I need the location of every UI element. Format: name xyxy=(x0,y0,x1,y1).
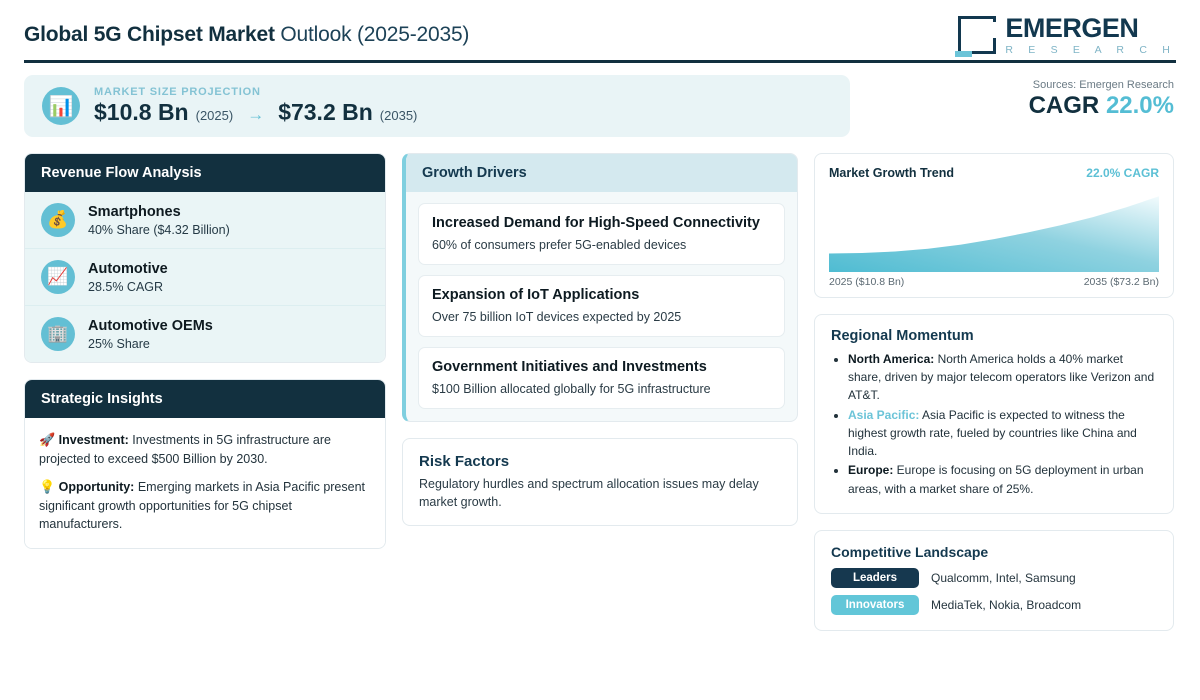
region-label: Europe: xyxy=(848,463,893,477)
light-bulb-icon: 💡 xyxy=(39,479,55,494)
regional-momentum-list: North America: North America holds a 40%… xyxy=(831,350,1157,498)
chart-axis-left: 2025 ($10.8 Bn) xyxy=(829,276,904,288)
item-meta: 28.5% CAGR xyxy=(88,280,168,294)
banner-label: MARKET SIZE PROJECTION xyxy=(94,86,417,98)
page-title: Global 5G Chipset Market Outlook (2025-2… xyxy=(24,23,469,47)
chart-axis-labels: 2025 ($10.8 Bn) 2035 ($73.2 Bn) xyxy=(829,276,1159,288)
list-item: North America: North America holds a 40%… xyxy=(848,350,1157,405)
cagr-value: 22.0% xyxy=(1106,92,1174,119)
cagr-block: Sources: Emergen Research CAGR 22.0% xyxy=(850,75,1176,120)
growth-drivers-list: Increased Demand for High-Speed Connecti… xyxy=(406,192,797,421)
revenue-flow-title: Revenue Flow Analysis xyxy=(25,154,385,192)
region-label: North America: xyxy=(848,352,934,366)
status-badge[interactable]: Leaders xyxy=(831,568,919,588)
right-column: Market Growth Trend 22.0% CAGR xyxy=(814,153,1174,631)
item-name: Automotive xyxy=(88,260,168,278)
company-names: MediaTek, Nokia, Broadcom xyxy=(931,598,1081,612)
company-names: Qualcomm, Intel, Samsung xyxy=(931,571,1076,585)
region-text: Europe is focusing on 5G deployment in u… xyxy=(848,463,1144,495)
competitive-landscape-title: Competitive Landscape xyxy=(831,544,1157,560)
insight-label: Opportunity: xyxy=(59,480,135,494)
regional-momentum-card: Regional Momentum North America: North A… xyxy=(814,314,1174,514)
report-page: Global 5G Chipset Market Outlook (2025-2… xyxy=(0,0,1200,700)
left-column: Revenue Flow Analysis 💰 Smartphones 40% … xyxy=(24,153,386,549)
content-columns: Revenue Flow Analysis 💰 Smartphones 40% … xyxy=(24,153,1176,631)
strategic-insights-title: Strategic Insights xyxy=(25,380,385,418)
chart-title: Market Growth Trend xyxy=(829,166,954,180)
bar-chart-icon: 📊 xyxy=(42,87,80,125)
risk-factors-title: Risk Factors xyxy=(419,453,781,470)
list-item[interactable]: 🏢 Automotive OEMs 25% Share xyxy=(25,306,385,362)
item-name: Automotive OEMs xyxy=(88,317,213,335)
risk-factors-card: Risk Factors Regulatory hurdles and spec… xyxy=(402,438,798,526)
growth-drivers-title: Growth Drivers xyxy=(406,154,797,192)
emergen-research-logo: EMERGEN R E S E A R C H xyxy=(958,15,1176,56)
insight-item: 💡 Opportunity: Emerging markets in Asia … xyxy=(39,477,371,534)
risk-factors-detail: Regulatory hurdles and spectrum allocati… xyxy=(419,475,781,511)
driver-detail: $100 Billion allocated globally for 5G i… xyxy=(432,381,771,397)
list-item: Europe: Europe is focusing on 5G deploym… xyxy=(848,461,1157,497)
logo-name: EMERGEN xyxy=(1005,15,1176,42)
insight-label: Investment: xyxy=(59,433,129,447)
chart-axis-right: 2035 ($73.2 Bn) xyxy=(1084,276,1159,288)
summary-banner-row: 📊 MARKET SIZE PROJECTION $10.8 Bn (2025)… xyxy=(24,75,1176,137)
insight-item: 🚀 Investment: Investments in 5G infrastr… xyxy=(39,430,371,468)
banner-end-value: $73.2 Bn xyxy=(278,99,373,126)
cagr-headline: CAGR 22.0% xyxy=(850,92,1174,120)
table-row: Leaders Qualcomm, Intel, Samsung xyxy=(831,568,1157,588)
page-title-light: Outlook (2025-2035) xyxy=(280,23,469,46)
strategic-insights-body: 🚀 Investment: Investments in 5G infrastr… xyxy=(25,418,385,548)
competitive-landscape-card: Competitive Landscape Leaders Qualcomm, … xyxy=(814,530,1174,631)
middle-column: Growth Drivers Increased Demand for High… xyxy=(402,153,798,526)
sources-text: Sources: Emergen Research xyxy=(850,79,1174,91)
banner-end-year: (2035) xyxy=(380,108,418,123)
cagr-label: CAGR xyxy=(1029,92,1100,119)
market-size-banner: 📊 MARKET SIZE PROJECTION $10.8 Bn (2025)… xyxy=(24,75,850,137)
list-item[interactable]: Expansion of IoT Applications Over 75 bi… xyxy=(418,275,785,337)
revenue-flow-card: Revenue Flow Analysis 💰 Smartphones 40% … xyxy=(24,153,386,363)
page-title-strong: Global 5G Chipset Market xyxy=(24,23,275,46)
page-header: Global 5G Chipset Market Outlook (2025-2… xyxy=(24,0,1176,58)
list-item[interactable]: 📈 Automotive 28.5% CAGR xyxy=(25,249,385,306)
list-item[interactable]: Government Initiatives and Investments $… xyxy=(418,347,785,409)
status-badge[interactable]: Innovators xyxy=(831,595,919,615)
arrow-right-icon: → xyxy=(240,105,271,125)
header-divider xyxy=(24,60,1176,63)
strategic-insights-card: Strategic Insights 🚀 Investment: Investm… xyxy=(24,379,386,549)
item-meta: 40% Share ($4.32 Billion) xyxy=(88,223,230,237)
growth-drivers-panel: Growth Drivers Increased Demand for High… xyxy=(402,153,798,422)
regional-momentum-title: Regional Momentum xyxy=(831,328,1157,344)
banner-start-year: (2025) xyxy=(196,108,234,123)
logo-square-icon xyxy=(958,16,996,54)
revenue-flow-list: 💰 Smartphones 40% Share ($4.32 Billion) … xyxy=(25,192,385,362)
item-meta: 25% Share xyxy=(88,337,213,351)
money-bag-icon: 💰 xyxy=(41,203,75,237)
logo-wordmark: EMERGEN R E S E A R C H xyxy=(1005,15,1176,56)
banner-text-block: MARKET SIZE PROJECTION $10.8 Bn (2025) →… xyxy=(94,86,417,126)
growth-area-chart xyxy=(829,186,1159,272)
rocket-icon: 🚀 xyxy=(39,432,55,447)
driver-detail: Over 75 billion IoT devices expected by … xyxy=(432,309,771,325)
banner-start-value: $10.8 Bn xyxy=(94,99,189,126)
item-name: Smartphones xyxy=(88,203,230,221)
driver-title: Increased Demand for High-Speed Connecti… xyxy=(432,215,771,233)
chart-cagr-badge: 22.0% CAGR xyxy=(1086,166,1159,180)
chart-increasing-icon: 📈 xyxy=(41,260,75,294)
list-item[interactable]: Increased Demand for High-Speed Connecti… xyxy=(418,203,785,265)
driver-title: Expansion of IoT Applications xyxy=(432,287,771,305)
list-item: Asia Pacific: Asia Pacific is expected t… xyxy=(848,406,1157,461)
chart-svg xyxy=(829,186,1159,272)
list-item[interactable]: 💰 Smartphones 40% Share ($4.32 Billion) xyxy=(25,192,385,249)
driver-detail: 60% of consumers prefer 5G-enabled devic… xyxy=(432,237,771,253)
market-growth-trend-card: Market Growth Trend 22.0% CAGR xyxy=(814,153,1174,298)
chart-header: Market Growth Trend 22.0% CAGR xyxy=(829,166,1159,180)
table-row: Innovators MediaTek, Nokia, Broadcom xyxy=(831,595,1157,615)
driver-title: Government Initiatives and Investments xyxy=(432,359,771,377)
logo-subtitle: R E S E A R C H xyxy=(1005,45,1176,56)
region-label: Asia Pacific: xyxy=(848,408,919,422)
office-building-icon: 🏢 xyxy=(41,317,75,351)
banner-values: $10.8 Bn (2025) → $73.2 Bn (2035) xyxy=(94,99,417,126)
